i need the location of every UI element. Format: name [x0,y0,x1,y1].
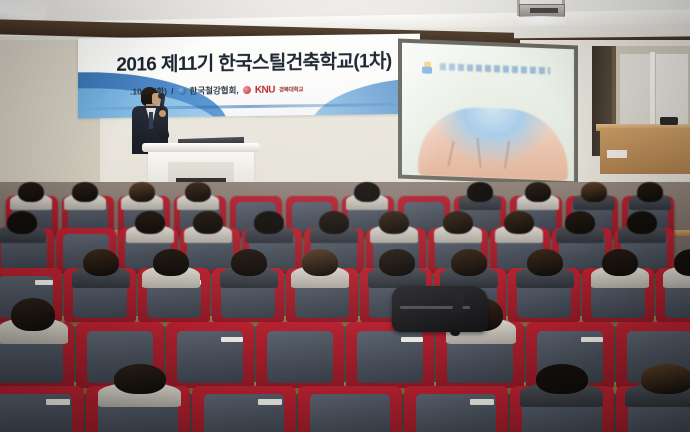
audience-head [319,211,349,234]
desk-paper [607,150,627,158]
screen-glare [402,43,574,182]
seat-cushion [267,331,334,382]
audience-head [581,182,607,202]
audience-head [302,249,338,276]
audience-head [193,211,223,234]
ceiling-projector [515,4,567,22]
banner-separator: / [171,86,173,96]
audience-head [443,211,473,234]
audience-head [135,211,165,234]
banner-org-secondary: KNU [255,84,275,95]
seat-number-label [46,399,71,404]
speaker-tie [149,112,153,129]
audience-head [504,211,534,234]
banner-title: 2016 제11기 한국스틸건축학교(1차) [100,46,408,77]
banner-org-secondary-sub: 경북대학교 [279,85,303,93]
auditorium-seat [256,322,344,388]
audience-head [129,182,155,202]
microphone-head [158,93,165,99]
seat-number-label [401,337,422,343]
audience-head [231,249,267,276]
audience-head [565,211,595,234]
audience-head [379,249,415,276]
event-banner: 2016 제11기 한국스틸건축학교(1차) .10.25(화) / 한국철강협… [78,34,420,119]
auditorium-seat [404,386,508,432]
knu-logo-icon [243,86,251,94]
audience-head [527,249,563,276]
audience-head [637,182,663,202]
banner-org-primary: 한국철강협회, [190,84,239,97]
auditorium-seat [0,386,84,432]
seat-number-label [221,337,242,343]
audience-head [153,249,189,276]
auditorium-seat [166,322,254,388]
audience-head [7,211,37,234]
seat-cushion [310,394,389,432]
projector-glow [515,16,567,25]
projection-screen [402,43,574,182]
desk-equipment [660,117,678,125]
seat-number-label [35,280,52,285]
ksa-logo-icon [178,87,186,95]
backpack [392,286,488,332]
seat-number-label [581,337,602,343]
podium-top [142,143,260,152]
audience-head [627,211,657,234]
audience-head [72,182,98,202]
audience-head [602,249,638,276]
audience-head [451,249,487,276]
audience-head [18,182,44,202]
audience-head [354,182,380,202]
seat-number-label [470,399,495,404]
audience-head [185,182,211,202]
speaker-hand [159,110,166,117]
audience-head [525,182,551,202]
audience-head [379,211,409,234]
auditorium-seat [298,386,402,432]
seat-number-label [258,399,283,404]
audience-head [467,182,493,202]
audience-head [114,364,166,394]
audience-head [254,211,284,234]
audience-head [641,364,690,394]
audience-head [11,298,55,331]
projector-lens [530,8,558,13]
audience-head [83,249,119,276]
audience-head [536,364,588,394]
auditorium-seat [192,386,296,432]
photo-scene: 2016 제11기 한국스틸건축학교(1차) .10.25(화) / 한국철강협… [0,0,690,432]
